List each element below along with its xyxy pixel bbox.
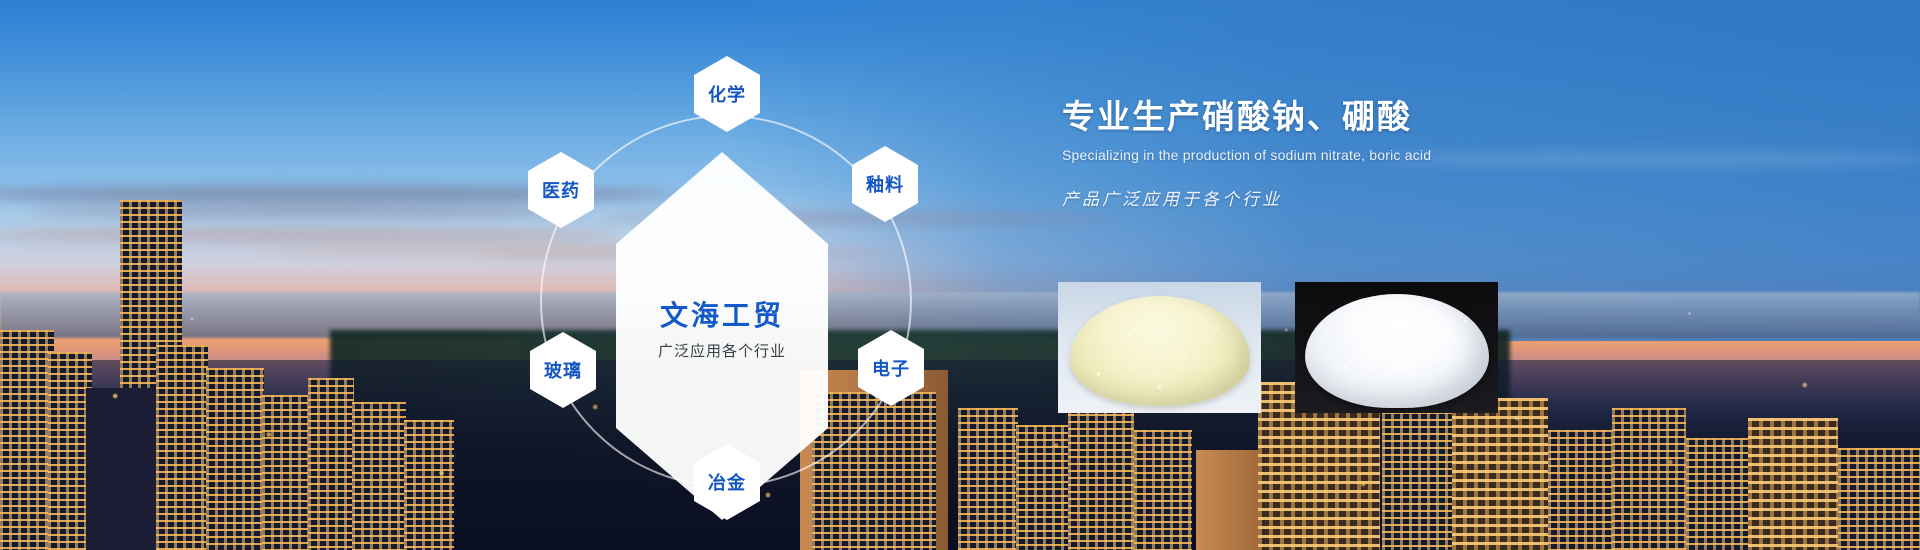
promo-banner: 文海工贸 广泛应用各个行业 化学 釉料 电子 冶金 玻璃 医药 专业生产硝酸钠、… (0, 0, 1920, 550)
powder-specks (1058, 282, 1261, 413)
product-photo-sodium-nitrate (1058, 282, 1261, 413)
company-name: 文海工贸 (660, 301, 784, 332)
company-tagline: 广泛应用各个行业 (658, 340, 786, 361)
hex-node-label: 釉料 (866, 171, 904, 197)
headline: 专业生产硝酸钠、硼酸 (1062, 96, 1762, 137)
product-photo-boric-acid (1295, 282, 1498, 413)
industry-hex-diagram: 文海工贸 广泛应用各个行业 化学 釉料 电子 冶金 玻璃 医药 (0, 0, 1020, 550)
subheadline: Specializing in the production of sodium… (1062, 147, 1762, 163)
hex-node-label: 玻璃 (544, 357, 582, 383)
hex-node-label: 医药 (542, 177, 580, 203)
hex-node-label: 化学 (708, 81, 746, 107)
powder-specks (1295, 282, 1498, 413)
product-photo-group (1058, 282, 1498, 413)
tagline: 产品广泛应用于各个行业 (1062, 185, 1762, 210)
hex-node-label: 电子 (872, 355, 910, 381)
copy-block: 专业生产硝酸钠、硼酸 Specializing in the productio… (1062, 96, 1762, 210)
hex-node-label: 冶金 (708, 469, 746, 495)
